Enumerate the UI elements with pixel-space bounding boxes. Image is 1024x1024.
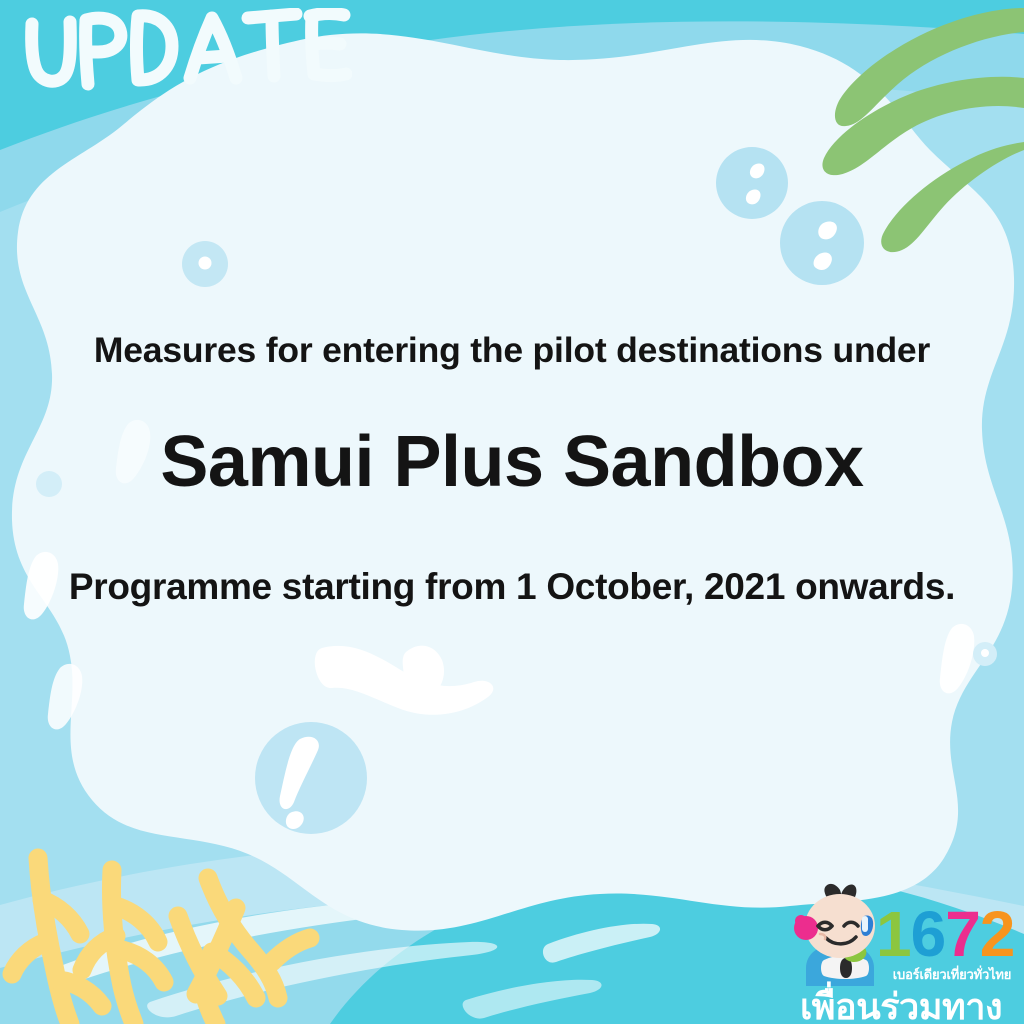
- poster-canvas: Measures for entering the pilot destinat…: [0, 0, 1024, 1024]
- logo-digit-1: 1: [876, 902, 911, 966]
- logo-digit-7: 7: [945, 902, 980, 966]
- headline-text-block: Measures for entering the pilot destinat…: [0, 330, 1024, 608]
- update-badge: [22, 8, 352, 100]
- logo-1672-lockup: 1672 เบอร์เดียวเที่ยวทั่วไทย เพื่อนร่วมท…: [778, 880, 1024, 1024]
- logo-digit-2: 2: [980, 902, 1015, 966]
- logo-digits: 1672: [876, 902, 1014, 966]
- logo-name-thai: เพื่อนร่วมทาง: [778, 978, 1024, 1024]
- headline-above: Measures for entering the pilot destinat…: [0, 330, 1024, 371]
- headline-below: Programme starting from 1 October, 2021 …: [0, 566, 1024, 609]
- headline-main: Samui Plus Sandbox: [0, 421, 1024, 504]
- logo-digit-6: 6: [911, 902, 946, 966]
